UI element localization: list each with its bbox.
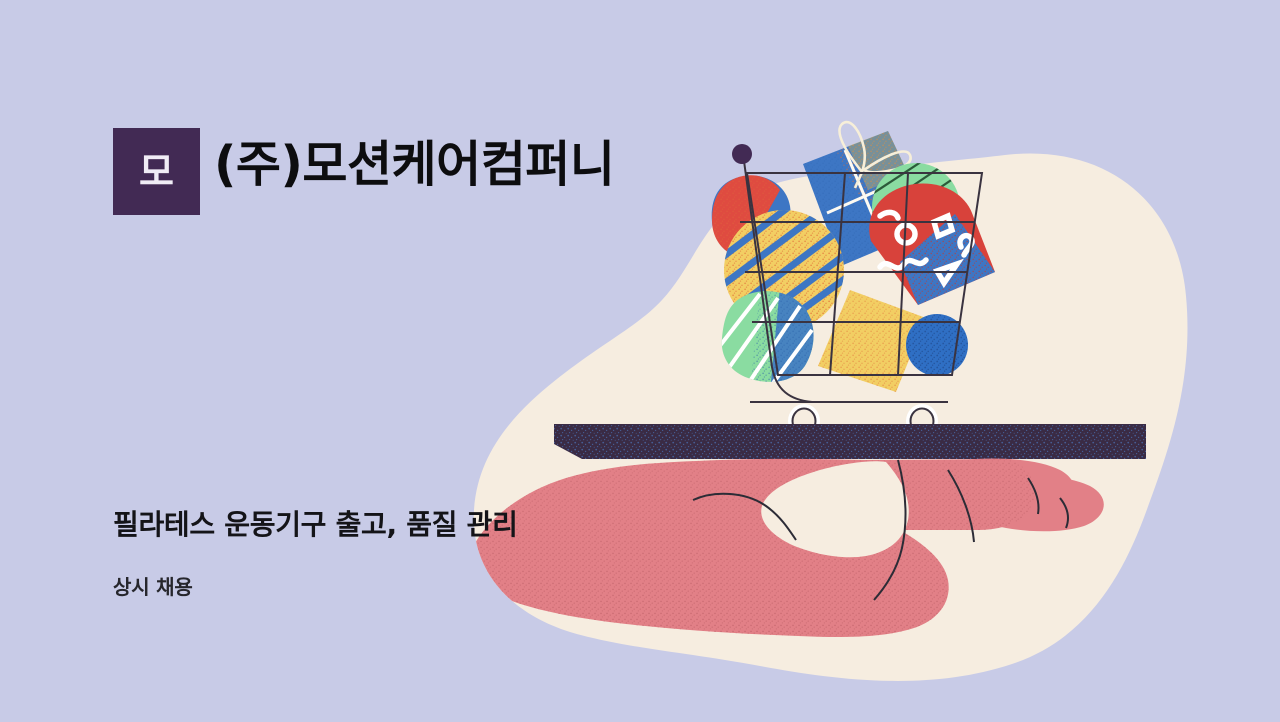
cart-handle-knob <box>732 144 752 164</box>
circle-yellow-striped <box>716 206 846 330</box>
cart-contents <box>712 122 995 392</box>
ribbon-bow <box>839 122 910 188</box>
hand <box>467 458 1104 637</box>
logo-glyph: 모 <box>139 153 174 191</box>
cart-frame <box>740 161 982 402</box>
square-yellow-orange <box>818 290 926 392</box>
circle-green-striped <box>866 156 962 254</box>
shopping-cart-illustration <box>0 0 1280 722</box>
gift-box-blue <box>803 122 933 266</box>
employment-type-badge: 상시 채용 <box>113 571 193 600</box>
job-posting-card: 모 (주)모션케어컴퍼니 필라테스 운동기구 출고, 품질 관리 상시 채용 <box>0 0 1280 722</box>
cream-blob <box>474 153 1188 680</box>
tag-red-squiggle <box>869 184 995 305</box>
blob-green-blue-striped <box>712 286 830 392</box>
cart-wheels <box>788 404 938 438</box>
ball-red-blue <box>712 175 791 258</box>
company-logo-badge: 모 <box>113 128 200 215</box>
job-title: 필라테스 운동기구 출고, 품질 관리 <box>113 503 518 543</box>
background <box>0 0 1280 722</box>
circle-blue-dotted <box>906 314 968 376</box>
company-name: (주)모션케어컴퍼니 <box>214 137 614 193</box>
dark-platform <box>554 418 1154 464</box>
